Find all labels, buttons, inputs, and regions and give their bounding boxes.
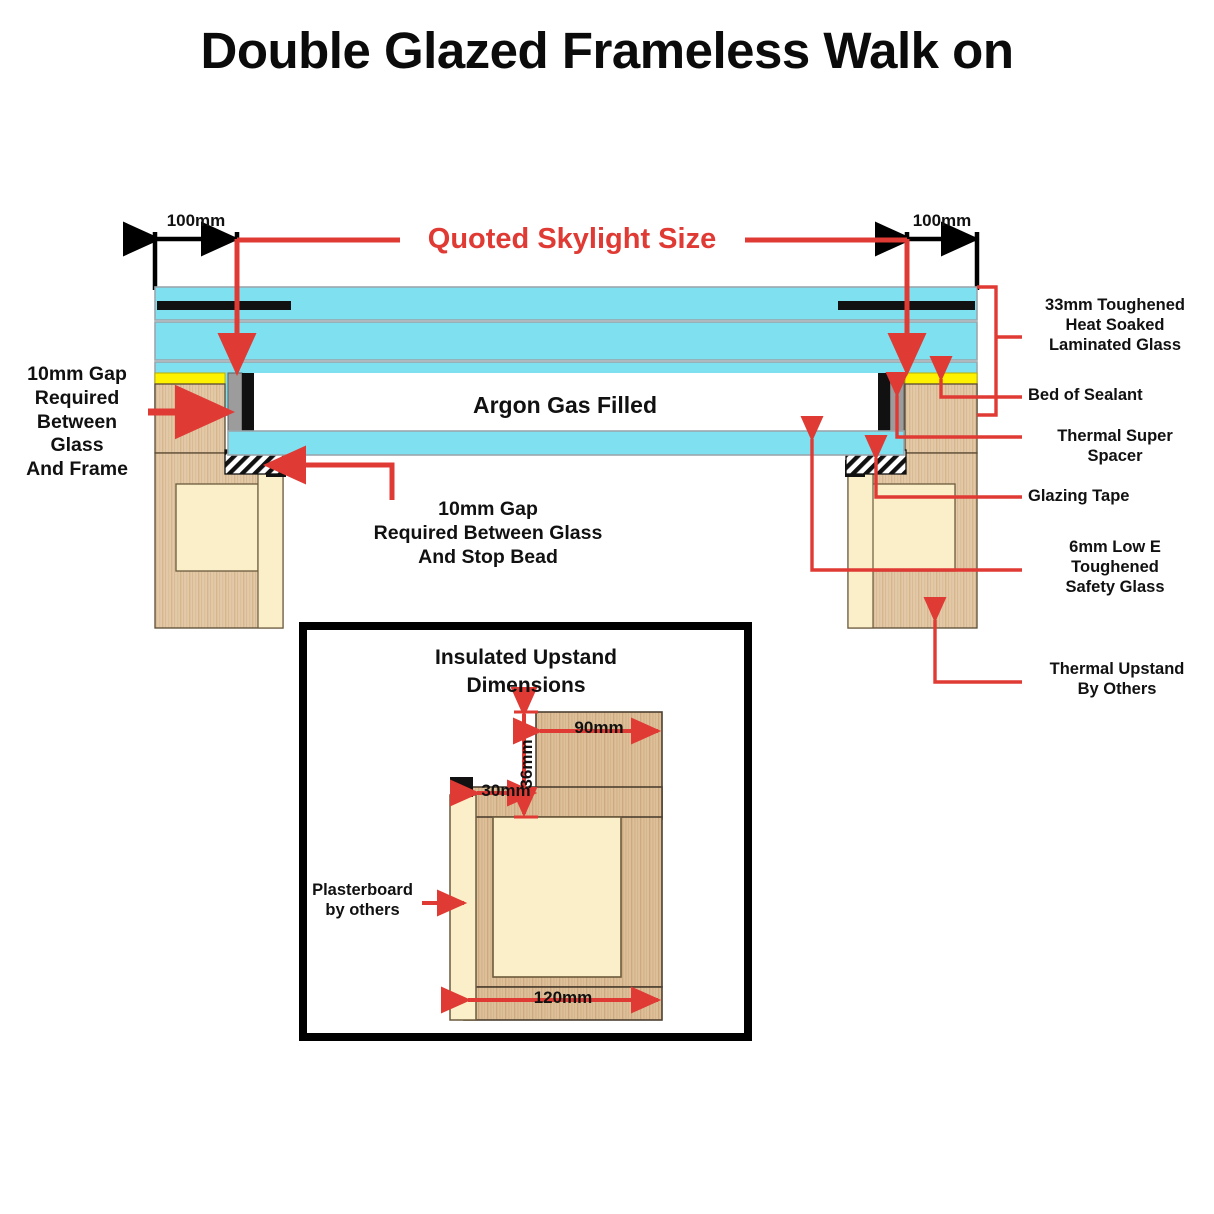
diagram-canvas: Double Glazed Frameless Walk on (0, 0, 1214, 1214)
insulation-core-left (176, 484, 258, 571)
plasterboard-right (848, 470, 873, 628)
dimension-bracket-right (907, 232, 977, 290)
inset-dim-90-label: 90mm (556, 718, 642, 739)
label-glazing-tape: Glazing Tape (1028, 486, 1214, 506)
inset-corner-block (450, 777, 473, 797)
bed-of-sealant-left (155, 373, 225, 384)
dimension-bracket-left (155, 232, 237, 290)
inset-dim-120-label: 120mm (515, 988, 611, 1009)
quoted-skylight-size-label: Quoted Skylight Size (392, 222, 752, 257)
label-laminated-glass: 33mm Toughened Heat Soaked Laminated Gla… (1024, 295, 1206, 355)
leader-gap-stop-bead (268, 465, 392, 500)
skylight-section-drawing (0, 0, 1214, 1214)
plasterboard-left (258, 470, 283, 628)
label-low-e-glass: 6mm Low E Toughened Safety Glass (1024, 537, 1206, 597)
gap-frame-label: 10mm Gap Required Between Glass And Fram… (6, 363, 148, 482)
dim-label-right: 100mm (889, 211, 995, 232)
low-e-glass-pane (228, 431, 904, 455)
argon-gas-label: Argon Gas Filled (400, 391, 730, 419)
label-bed-of-sealant: Bed of Sealant (1028, 385, 1214, 405)
gap-stop-bead-label: 10mm Gap Required Between Glass And Stop… (318, 498, 658, 569)
label-thermal-super-spacer: Thermal Super Spacer (1024, 426, 1206, 466)
label-thermal-upstand: Thermal Upstand By Others (1024, 659, 1210, 699)
dim-label-left: 100mm (143, 211, 249, 232)
inset-insulation-core (493, 817, 621, 977)
inset-dim-30-label: 30mm (481, 781, 531, 802)
inset-plasterboard (450, 795, 476, 1020)
inset-title: Insulated Upstand Dimensions (330, 644, 722, 701)
plasterboard-label: Plasterboard by others (300, 880, 425, 920)
leader-thermal-upstand (935, 620, 1022, 682)
